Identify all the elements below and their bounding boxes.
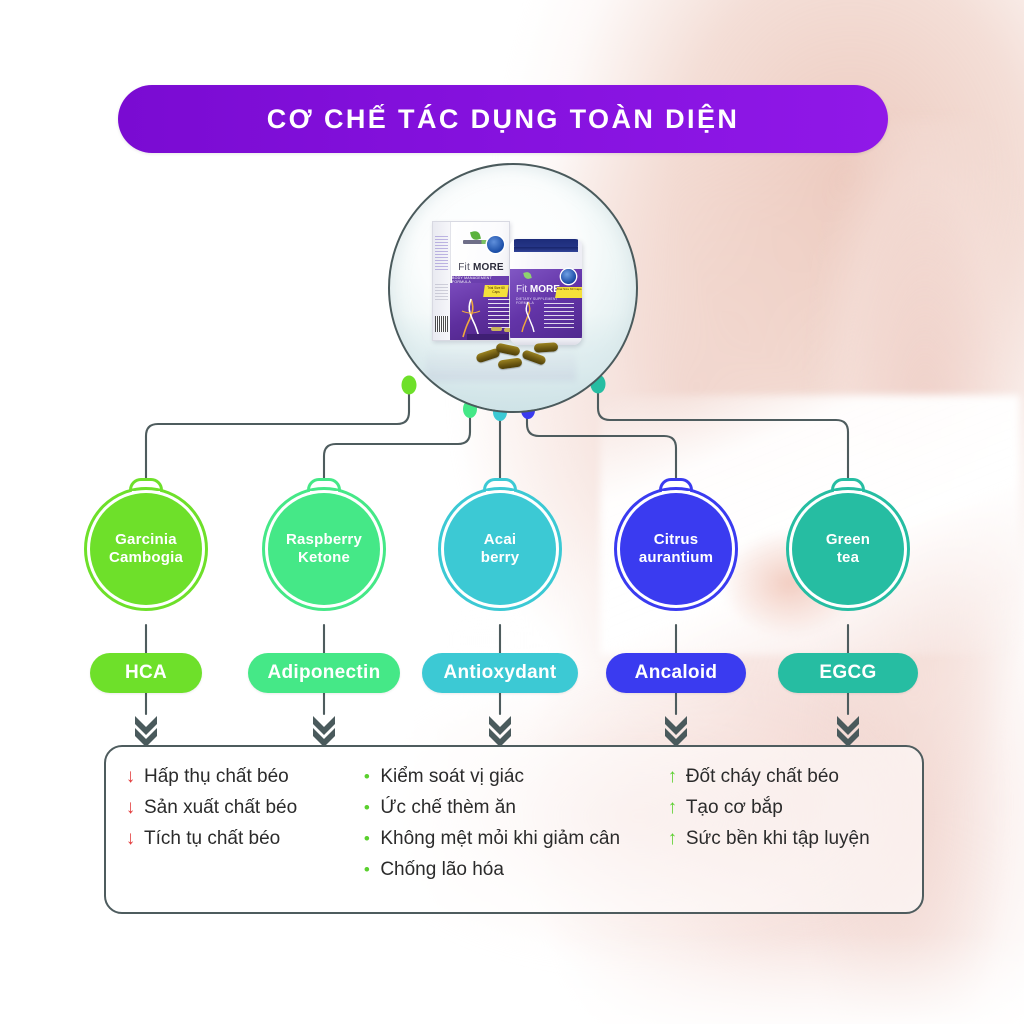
benefit-item: •Không mệt mỏi khi giảm cân xyxy=(360,827,666,851)
barcode-icon xyxy=(435,316,448,332)
quality-seal-icon xyxy=(487,236,504,253)
slim-figure-icon xyxy=(516,301,540,333)
benefit-text: Ức chế thèm ăn xyxy=(380,796,516,820)
benefit-item: ↑Đốt cháy chất béo xyxy=(666,765,906,789)
bottle-logo xyxy=(518,272,540,281)
benefits-panel: ↓Hấp thụ chất béo ↓Sản xuất chất béo ↓Tí… xyxy=(104,745,924,914)
ingredient-label-raspberry: RaspberryKetone xyxy=(268,493,380,605)
up-arrow-icon: ↑ xyxy=(666,765,679,789)
compound-pill-egcg[interactable]: EGCG xyxy=(778,653,918,693)
product-box-purple-panel: Trial Size 60 Caps xyxy=(450,283,509,340)
product-box-side-text-2 xyxy=(435,284,448,300)
product-box-strip-text: BODY MANAGEMENT FORMULA xyxy=(452,276,509,283)
benefit-text: Sản xuất chất béo xyxy=(144,796,297,820)
benefit-text: Tạo cơ bắp xyxy=(686,796,783,820)
hub-inner: Fit MORE BODY MANAGEMENT FORMULA Trial S… xyxy=(390,165,636,411)
benefit-text: Sức bền khi tập luyện xyxy=(686,827,870,851)
bottle-copy-lines xyxy=(544,303,574,329)
benefit-item: •Ức chế thèm ăn xyxy=(360,796,666,820)
down-arrow-icon: ↓ xyxy=(124,796,137,820)
down-arrow-icon: ↓ xyxy=(124,765,137,789)
compound-pill-ancaloid[interactable]: Ancaloid xyxy=(606,653,746,693)
bullet-dot-icon: • xyxy=(360,765,373,789)
ingredient-node-raspberry-ketone[interactable]: RaspberryKetone xyxy=(262,487,386,611)
benefit-text: Kiểm soát vị giác xyxy=(380,765,524,789)
product-box-flag-text: Trial Size 60 Caps xyxy=(485,286,507,294)
background-white-bottom xyxy=(0,934,1024,1024)
benefit-text: Chống lão hóa xyxy=(380,858,504,882)
product-hub-circle: Fit MORE BODY MANAGEMENT FORMULA Trial S… xyxy=(388,163,638,413)
compound-pill-adiponectin[interactable]: Adiponectin xyxy=(248,653,400,693)
benefits-column-increase: ↑Đốt cháy chất béo ↑Tạo cơ bắp ↑Sức bền … xyxy=(666,765,906,912)
ingredient-node-green-tea[interactable]: Greentea xyxy=(786,487,910,611)
benefit-item: ↑Tạo cơ bắp xyxy=(666,796,906,820)
benefits-column-control: •Kiểm soát vị giác •Ức chế thèm ăn •Khôn… xyxy=(360,765,666,912)
bullet-dot-icon: • xyxy=(360,827,373,851)
loose-capsules xyxy=(476,343,566,373)
capsule-icon xyxy=(497,357,522,369)
benefit-item: ↓Sản xuất chất béo xyxy=(124,796,360,820)
product-box: Fit MORE BODY MANAGEMENT FORMULA Trial S… xyxy=(432,221,510,341)
ingredient-label-garcinia: GarciniaCambogia xyxy=(90,493,202,605)
quality-seal-icon xyxy=(561,269,576,284)
product-name-bold: MORE xyxy=(473,262,504,273)
up-arrow-icon: ↑ xyxy=(666,827,679,851)
title-banner: CƠ CHẾ TÁC DỤNG TOÀN DIỆN xyxy=(118,85,888,153)
benefits-columns: ↓Hấp thụ chất béo ↓Sản xuất chất béo ↓Tí… xyxy=(106,747,922,912)
benefit-text: Không mệt mỏi khi giảm cân xyxy=(380,827,620,851)
compound-pill-hca[interactable]: HCA xyxy=(90,653,202,693)
ingredient-node-acai-berry[interactable]: Acaiberry xyxy=(438,487,562,611)
bullet-dot-icon: • xyxy=(360,858,373,882)
bottle-cap-rim xyxy=(514,247,578,252)
product-name-light: Fit xyxy=(458,262,473,273)
ingredient-label-acai: Acaiberry xyxy=(444,493,556,605)
up-arrow-icon: ↑ xyxy=(666,796,679,820)
benefit-item: ↓Tích tụ chất béo xyxy=(124,827,360,851)
product-box-footer xyxy=(467,334,509,340)
page-title: CƠ CHẾ TÁC DỤNG TOÀN DIỆN xyxy=(267,104,740,135)
infographic-canvas: CƠ CHẾ TÁC DỤNG TOÀN DIỆN xyxy=(0,0,1024,1024)
bottle-name-light: Fit xyxy=(516,284,530,295)
ingredient-label-greentea: Greentea xyxy=(792,493,904,605)
product-box-side-text xyxy=(435,236,448,272)
product-box-name: Fit MORE xyxy=(453,262,509,273)
ingredient-node-garcinia-cambogia[interactable]: GarciniaCambogia xyxy=(84,487,208,611)
benefit-item: •Kiểm soát vị giác xyxy=(360,765,666,789)
leaf-icon xyxy=(523,271,532,280)
ingredient-label-citrus: Citrusaurantium xyxy=(620,493,732,605)
benefit-item: ↓Hấp thụ chất béo xyxy=(124,765,360,789)
compound-pill-antioxydant[interactable]: Antioxydant xyxy=(422,653,578,693)
bullet-dot-icon: • xyxy=(360,796,373,820)
capsule-icon xyxy=(534,342,559,353)
product-bottle: Fit MORE DIETARY SUPPLEMENT FORMULA Tria… xyxy=(510,239,582,345)
benefit-text: Đốt cháy chất béo xyxy=(686,765,839,789)
bottle-flag-text: Trial Size 60 Caps xyxy=(556,288,582,292)
ingredient-node-citrus-aurantium[interactable]: Citrusaurantium xyxy=(614,487,738,611)
benefit-text: Tích tụ chất béo xyxy=(144,827,280,851)
benefits-column-reduce: ↓Hấp thụ chất béo ↓Sản xuất chất béo ↓Tí… xyxy=(124,765,360,912)
benefit-item: •Chống lão hóa xyxy=(360,858,666,882)
benefit-item: ↑Sức bền khi tập luyện xyxy=(666,827,906,851)
benefit-text: Hấp thụ chất béo xyxy=(144,765,289,789)
slim-figure-icon xyxy=(458,297,484,339)
down-arrow-icon: ↓ xyxy=(124,827,137,851)
